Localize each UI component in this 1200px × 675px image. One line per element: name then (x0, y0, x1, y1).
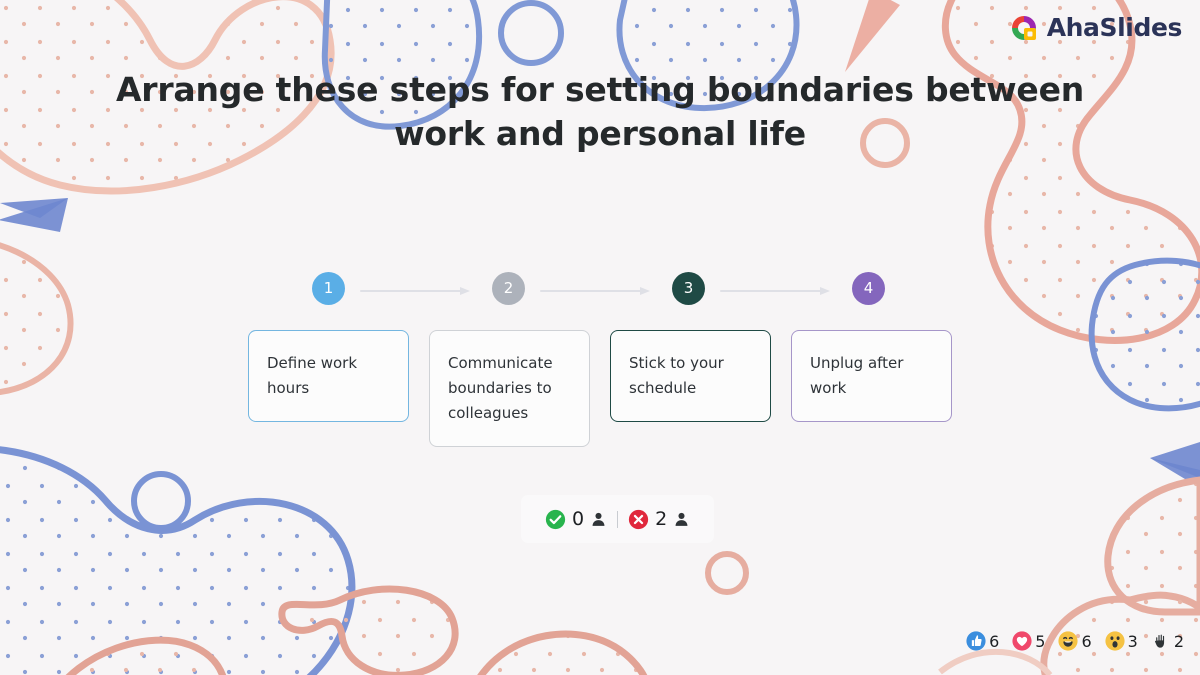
check-circle-icon (545, 509, 566, 530)
reaction-count: 6 (989, 632, 999, 651)
reaction-count: 5 (1035, 632, 1045, 651)
step-arrow-bar (540, 290, 641, 292)
step-arrow-head (460, 287, 470, 295)
step-circle-4[interactable]: 4 (852, 272, 885, 305)
step-arrow-1 (360, 287, 470, 297)
surprised-icon (1105, 631, 1125, 651)
reaction-count: 2 (1174, 632, 1184, 651)
reaction-heart[interactable]: 5 (1012, 631, 1045, 651)
correct-count: 0 (572, 508, 584, 530)
reactions-bar: 6 5 6 3 (966, 631, 1184, 651)
reaction-surprised[interactable]: 3 (1105, 631, 1138, 651)
reaction-thumbs-up[interactable]: 6 (966, 631, 999, 651)
step-arrow-bar (360, 290, 461, 292)
raised-hand-icon (1151, 631, 1171, 651)
answer-counter-bar: 0 2 (521, 495, 714, 543)
laugh-icon (1058, 631, 1078, 651)
thumbs-up-icon (966, 631, 986, 651)
step-arrow-head (640, 287, 650, 295)
correct-counter-group: 0 (535, 508, 617, 530)
step-arrow-bar (720, 290, 821, 292)
step-arrow-2 (540, 287, 650, 297)
reaction-count: 3 (1128, 632, 1138, 651)
step-circle-2[interactable]: 2 (492, 272, 525, 305)
incorrect-counter-group: 2 (618, 508, 700, 530)
answer-card-1[interactable]: Define work hours (248, 330, 409, 422)
reaction-laugh[interactable]: 6 (1058, 631, 1091, 651)
person-icon (673, 511, 690, 528)
step-circle-1[interactable]: 1 (312, 272, 345, 305)
reaction-count: 6 (1081, 632, 1091, 651)
reaction-raised-hand[interactable]: 2 (1151, 631, 1184, 651)
answer-card-3[interactable]: Stick to your schedule (610, 330, 771, 422)
brand-name: AhaSlides (1047, 13, 1182, 42)
slide-canvas: AhaSlides Arrange these steps for settin… (0, 0, 1200, 675)
heart-icon (1012, 631, 1032, 651)
answer-card-2[interactable]: Communicate boundaries to colleagues (429, 330, 590, 447)
step-arrow-3 (720, 287, 830, 297)
answer-card-4[interactable]: Unplug after work (791, 330, 952, 422)
step-circle-3[interactable]: 3 (672, 272, 705, 305)
person-icon (590, 511, 607, 528)
ahaslides-logo-icon (1010, 14, 1038, 42)
step-arrow-head (820, 287, 830, 295)
steps-indicator-row: 1 2 3 4 (248, 272, 952, 306)
incorrect-count: 2 (655, 508, 667, 530)
slide-title: Arrange these steps for setting boundari… (84, 68, 1116, 156)
ahaslides-logo: AhaSlides (1010, 13, 1182, 42)
x-circle-icon (628, 509, 649, 530)
